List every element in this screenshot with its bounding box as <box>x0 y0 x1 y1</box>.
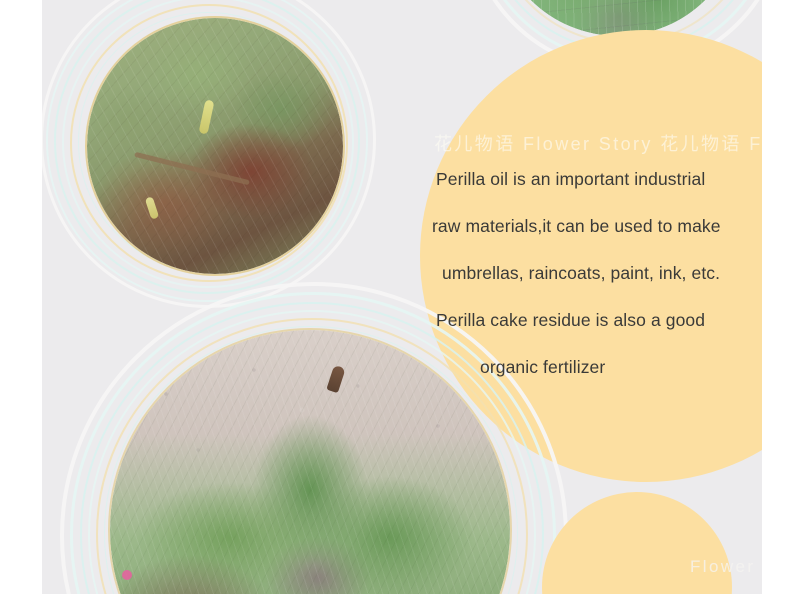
leaf-vein-texture <box>87 18 343 274</box>
pink-petal-1 <box>122 570 132 580</box>
small-orange-circle <box>542 492 732 594</box>
perilla-green-photo <box>494 0 742 36</box>
green-leaf-vein-texture <box>494 0 742 36</box>
perilla-leaves-photo <box>87 18 343 274</box>
description-line-2: raw materials,it can be used to make <box>420 203 762 250</box>
description-line-4: Perilla cake residue is also a good <box>420 297 762 344</box>
screenshot-root: 花儿物语 Flower Story 花儿物语 Flower Story Peri… <box>0 0 800 594</box>
description-text-block: Perilla oil is an important industrial r… <box>420 156 762 391</box>
description-line-5: organic fertilizer <box>420 344 762 391</box>
description-line-3: umbrellas, raincoats, paint, ink, etc. <box>420 250 762 297</box>
description-line-1: Perilla oil is an important industrial <box>420 156 762 203</box>
content-canvas: 花儿物语 Flower Story 花儿物语 Flower Story Peri… <box>42 0 762 594</box>
